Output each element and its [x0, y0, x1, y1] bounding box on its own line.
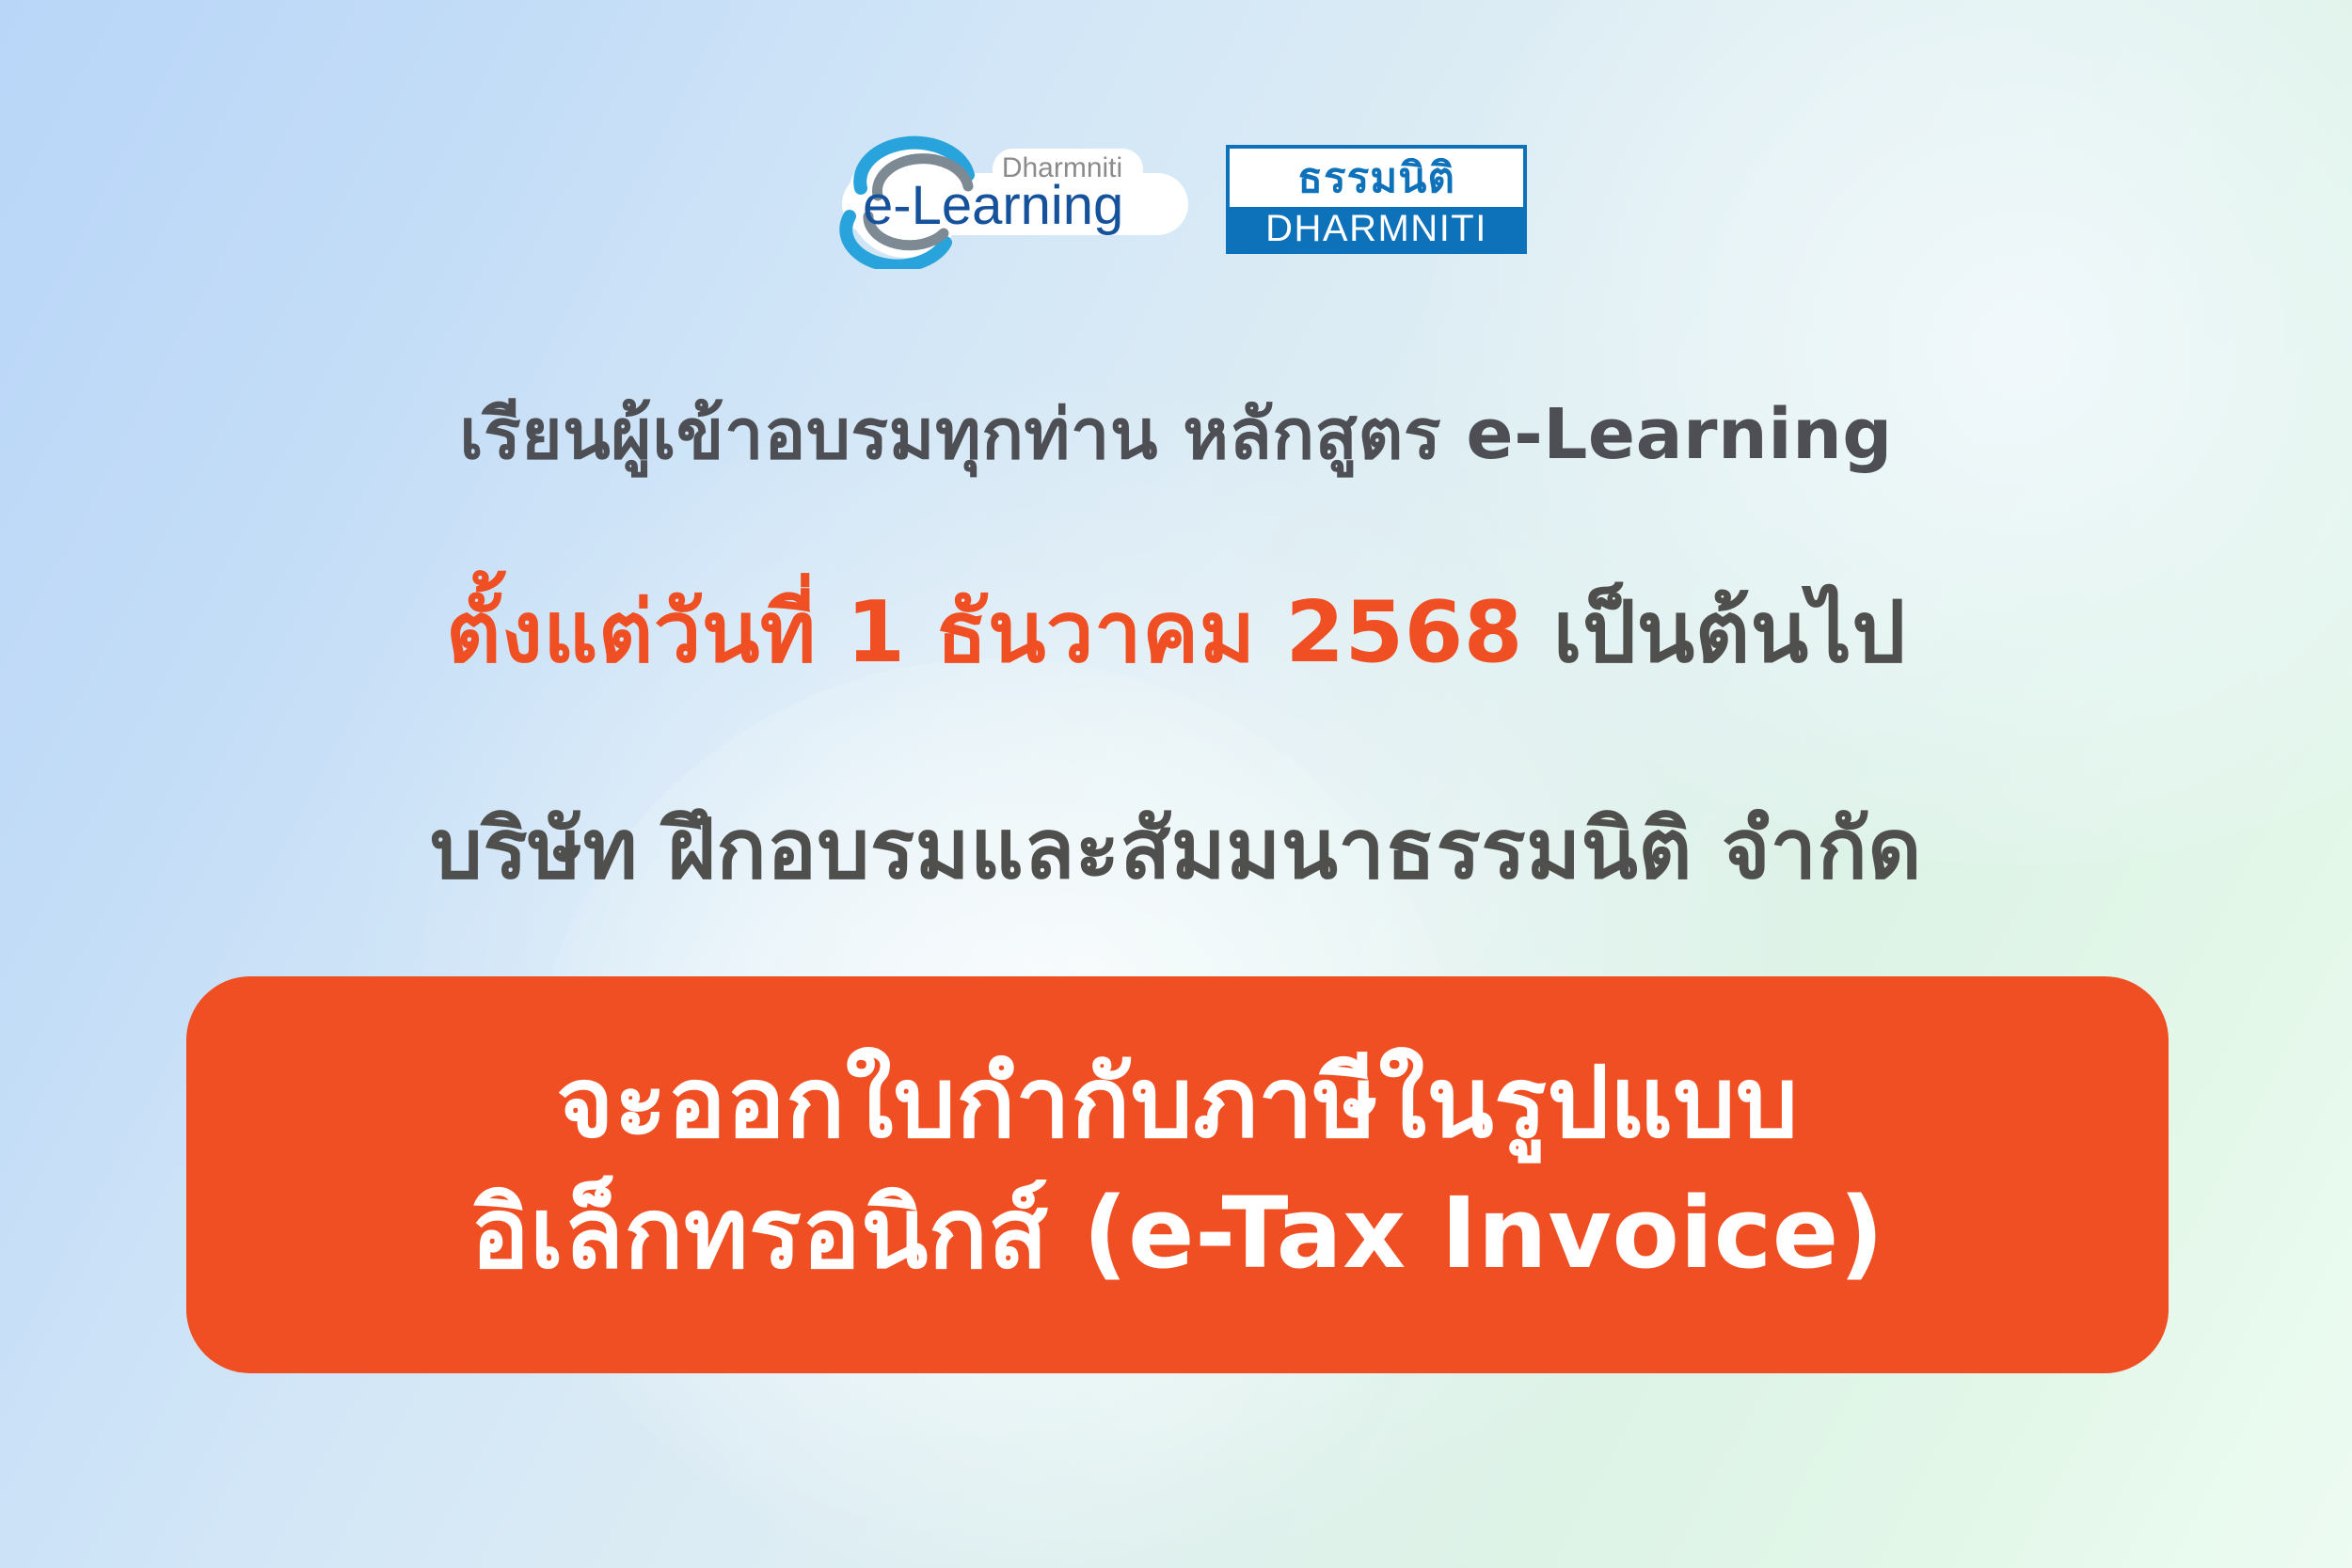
headline-effective-date: ตั้งแต่วันที่ 1 ธันวาคม 2568 [446, 583, 1523, 682]
dharmniti-logo: ธรรมนิติ DHARMNITI [1226, 145, 1527, 254]
callout-line-1: จะออกใบกำกับภาษีในรูปแบบ [556, 1040, 1798, 1165]
headline-line-2-suffix: เป็นต้นไป [1523, 583, 1906, 682]
callout-box: จะออกใบกำกับภาษีในรูปแบบ อิเล็กทรอนิกส์ … [186, 976, 2169, 1373]
logo-row: Dharmniti e-Learning ธรรมนิติ DHARMNITI [0, 130, 2352, 269]
headline-line-2: ตั้งแต่วันที่ 1 ธันวาคม 2568 เป็นต้นไป [0, 564, 2352, 699]
headline-company-name: บริษัท ฝึกอบรมและสัมมนาธรรมนิติ จำกัด [0, 783, 2352, 914]
elearning-logo: Dharmniti e-Learning [825, 130, 1201, 269]
callout-line-2: อิเล็กทรอนิกส์ (e-Tax Invoice) [470, 1171, 1884, 1296]
dharmniti-logo-thai: ธรรมนิติ [1230, 149, 1523, 207]
headline-line-1: เรียนผู้เข้าอบรมทุกท่าน หลักสูตร e-Learn… [0, 378, 2352, 489]
svg-text:e-Learning: e-Learning [863, 175, 1123, 236]
dharmniti-logo-english: DHARMNITI [1230, 207, 1523, 250]
announcement-poster: Dharmniti e-Learning ธรรมนิติ DHARMNITI … [0, 0, 2352, 1568]
elearning-logo-artwork: Dharmniti e-Learning [825, 130, 1201, 269]
